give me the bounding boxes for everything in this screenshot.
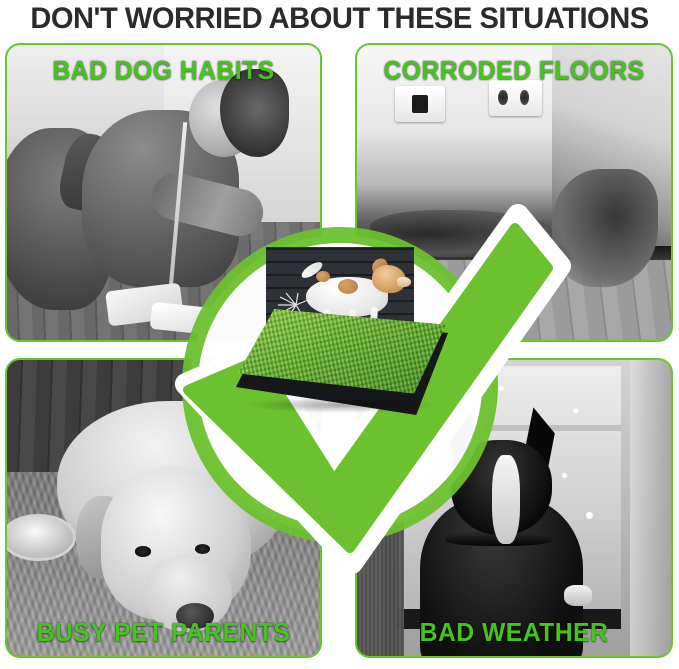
page-title: DON'T WORRIED ABOUT THESE SITUATIONS <box>10 0 669 38</box>
product-image-grass-potty-pad <box>236 247 448 415</box>
panel-label-busy-pet-parents: BUSY PET PARENTS <box>15 617 312 648</box>
panel-label-bad-dog-habits: BAD DOG HABITS <box>15 55 312 86</box>
panel-label-bad-weather: BAD WEATHER <box>365 617 663 648</box>
panel-label-corroded-floors: CORRODED FLOORS <box>365 55 663 86</box>
light-switch-icon <box>395 86 445 121</box>
